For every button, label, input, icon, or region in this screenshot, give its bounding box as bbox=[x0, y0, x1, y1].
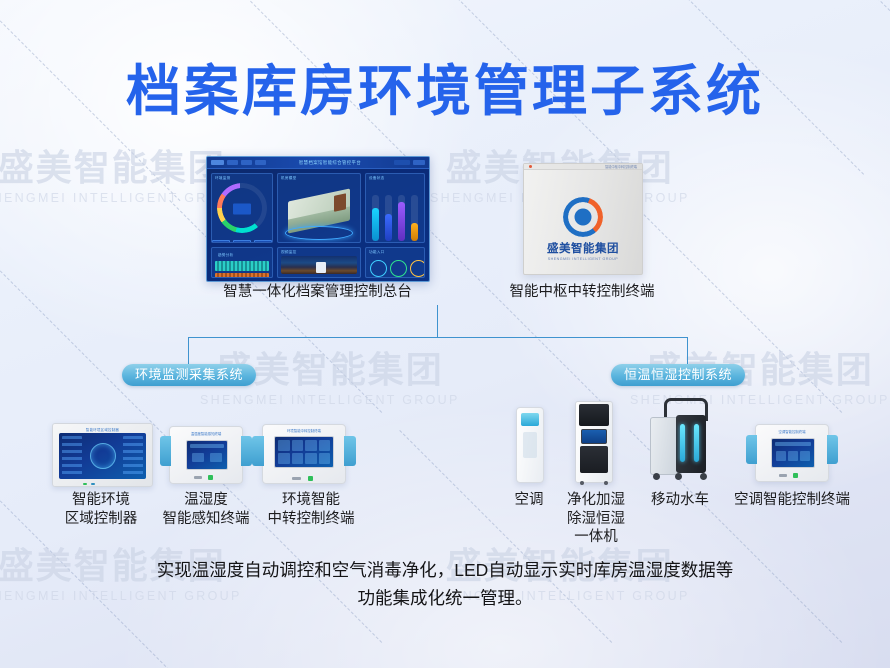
leaf-icon bbox=[390, 260, 407, 277]
device-caption: 智能环境 区域控制器 bbox=[40, 491, 162, 528]
bar-cleanliness bbox=[398, 202, 405, 241]
device-caption: 空调 bbox=[499, 491, 559, 510]
device-air-conditioner bbox=[516, 407, 544, 483]
device-caption: 空调智能控制终端 bbox=[722, 491, 862, 510]
building-3d-model bbox=[278, 182, 360, 242]
ac-display-panel bbox=[521, 413, 539, 426]
model-panel: 机房模型 bbox=[277, 173, 361, 243]
device-screen-label: 智能环境区域控制器 bbox=[53, 424, 152, 432]
device-caption: 净化加湿 除湿恒湿 一体机 bbox=[556, 491, 636, 547]
gauge-button bbox=[254, 240, 272, 243]
panel-title: 功能入口 bbox=[366, 248, 424, 256]
device-screen bbox=[186, 440, 228, 470]
trend-panel: 趋势分析 bbox=[211, 247, 273, 278]
hub-panel-label: 智能中枢中转控制终端 bbox=[605, 164, 637, 169]
device-sensing-terminal: 温湿度智能感知终端 bbox=[160, 426, 252, 484]
gauge-button-row bbox=[212, 240, 272, 243]
bar-temperature bbox=[372, 208, 379, 241]
bar-airspeed bbox=[411, 223, 418, 241]
gauge-panel: 环境监测 bbox=[211, 173, 273, 243]
hub-brand-logo: 盛美智能集团 SHENGMEI INTELLIGENT GROUP bbox=[524, 197, 642, 261]
panel-title: 环境监测 bbox=[212, 174, 272, 182]
video-feed-thumbnail bbox=[281, 256, 357, 274]
purifier-display bbox=[581, 429, 607, 444]
console-dashboard-image: 智慧档案馆智能综合管控平台 环境监测 bbox=[206, 156, 430, 282]
panel-title: 设备状态 bbox=[366, 174, 424, 182]
device-caption: 移动水车 bbox=[645, 491, 715, 510]
device-screen bbox=[274, 436, 334, 468]
chart-icon bbox=[370, 260, 387, 277]
gauge-button bbox=[233, 240, 251, 243]
hub-brand-en: SHENGMEI INTELLIGENT GROUP bbox=[524, 257, 642, 261]
purifier-lower-module bbox=[580, 446, 608, 473]
status-bar-chart bbox=[366, 182, 424, 243]
panel-title: 趋势分析 bbox=[215, 251, 269, 259]
footer-line-2: 功能集成化统一管理。 bbox=[60, 584, 830, 612]
device-screen-label: 空调智能控制终端 bbox=[746, 429, 838, 434]
device-screen bbox=[59, 433, 146, 479]
slide-root: 盛美智能集团 SHENGMEI INTELLIGENT GROUP 盛美智能集团… bbox=[0, 0, 890, 668]
bar-humidity bbox=[385, 214, 392, 241]
shengmei-logo-icon bbox=[563, 197, 603, 237]
group-label-temperature-humidity-control: 恒温恒湿控制系统 bbox=[611, 364, 745, 386]
group-label-environment-monitoring: 环境监测采集系统 bbox=[122, 364, 256, 386]
connector-stem bbox=[437, 305, 438, 338]
purifier-top-module bbox=[579, 404, 609, 426]
device-ac-control-terminal: 空调智能控制终端 bbox=[746, 424, 838, 482]
video-panel: 视频监控 bbox=[277, 247, 361, 278]
footer-line-1: 实现温湿度自动调控和空气消毒净化，LED自动显示实时库房温湿度数据等 bbox=[60, 556, 830, 584]
hub-terminal-image: 智能中枢中转控制终端 盛美智能集团 SHENGMEI INTELLIGENT G… bbox=[523, 163, 643, 275]
page-title: 档案库房环境管理子系统 bbox=[0, 46, 890, 126]
function-icon-grid bbox=[366, 256, 424, 278]
console-caption: 智慧一体化档案管理控制总台 bbox=[190, 283, 445, 302]
watermark-en: SHENGMEI INTELLIGENT GROUP bbox=[200, 393, 460, 407]
footer-description: 实现温湿度自动调控和空气消毒净化，LED自动显示实时库房温湿度数据等 功能集成化… bbox=[60, 556, 830, 613]
device-screen-label: 环境智能中转控制终端 bbox=[252, 428, 356, 433]
uv-lamp-icon bbox=[680, 424, 685, 462]
device-mobile-water-cart bbox=[648, 398, 710, 482]
dashboard-body: 环境监测 趋势分析 bbox=[207, 169, 429, 282]
shield-icon bbox=[410, 260, 425, 277]
power-indicator-icon bbox=[529, 165, 532, 168]
device-area-controller: 智能环境区域控制器 bbox=[52, 423, 153, 487]
device-screen-label: 温湿度智能感知终端 bbox=[160, 431, 252, 436]
dashboard-screen-title: 智慧档案馆智能综合管控平台 bbox=[269, 160, 391, 166]
device-screen bbox=[771, 438, 815, 468]
uv-lamp-icon bbox=[694, 424, 699, 462]
gauge-center-readout bbox=[233, 204, 251, 215]
model-base-ring bbox=[285, 226, 353, 240]
hub-brand-cn: 盛美智能集团 bbox=[524, 240, 642, 256]
gauge-button bbox=[212, 240, 230, 243]
hub-top-strip: 智能中枢中转控制终端 bbox=[524, 164, 642, 170]
device-caption: 环境智能 中转控制终端 bbox=[250, 491, 372, 528]
function-entry-panel: 功能入口 bbox=[365, 247, 425, 278]
hub-caption: 智能中枢中转控制终端 bbox=[490, 283, 674, 302]
device-relay-terminal: 环境智能中转控制终端 bbox=[252, 424, 356, 484]
device-caption: 温湿度 智能感知终端 bbox=[145, 491, 267, 528]
gauge-wrap bbox=[212, 183, 272, 237]
status-bar-panel: 设备状态 bbox=[365, 173, 425, 243]
panel-title: 机房模型 bbox=[278, 174, 360, 182]
ac-vent-icon bbox=[523, 432, 537, 458]
dashboard-header-bar: 智慧档案馆智能综合管控平台 bbox=[207, 157, 429, 169]
device-purifier-humidifier bbox=[575, 401, 613, 483]
panel-title: 视频监控 bbox=[278, 248, 360, 256]
